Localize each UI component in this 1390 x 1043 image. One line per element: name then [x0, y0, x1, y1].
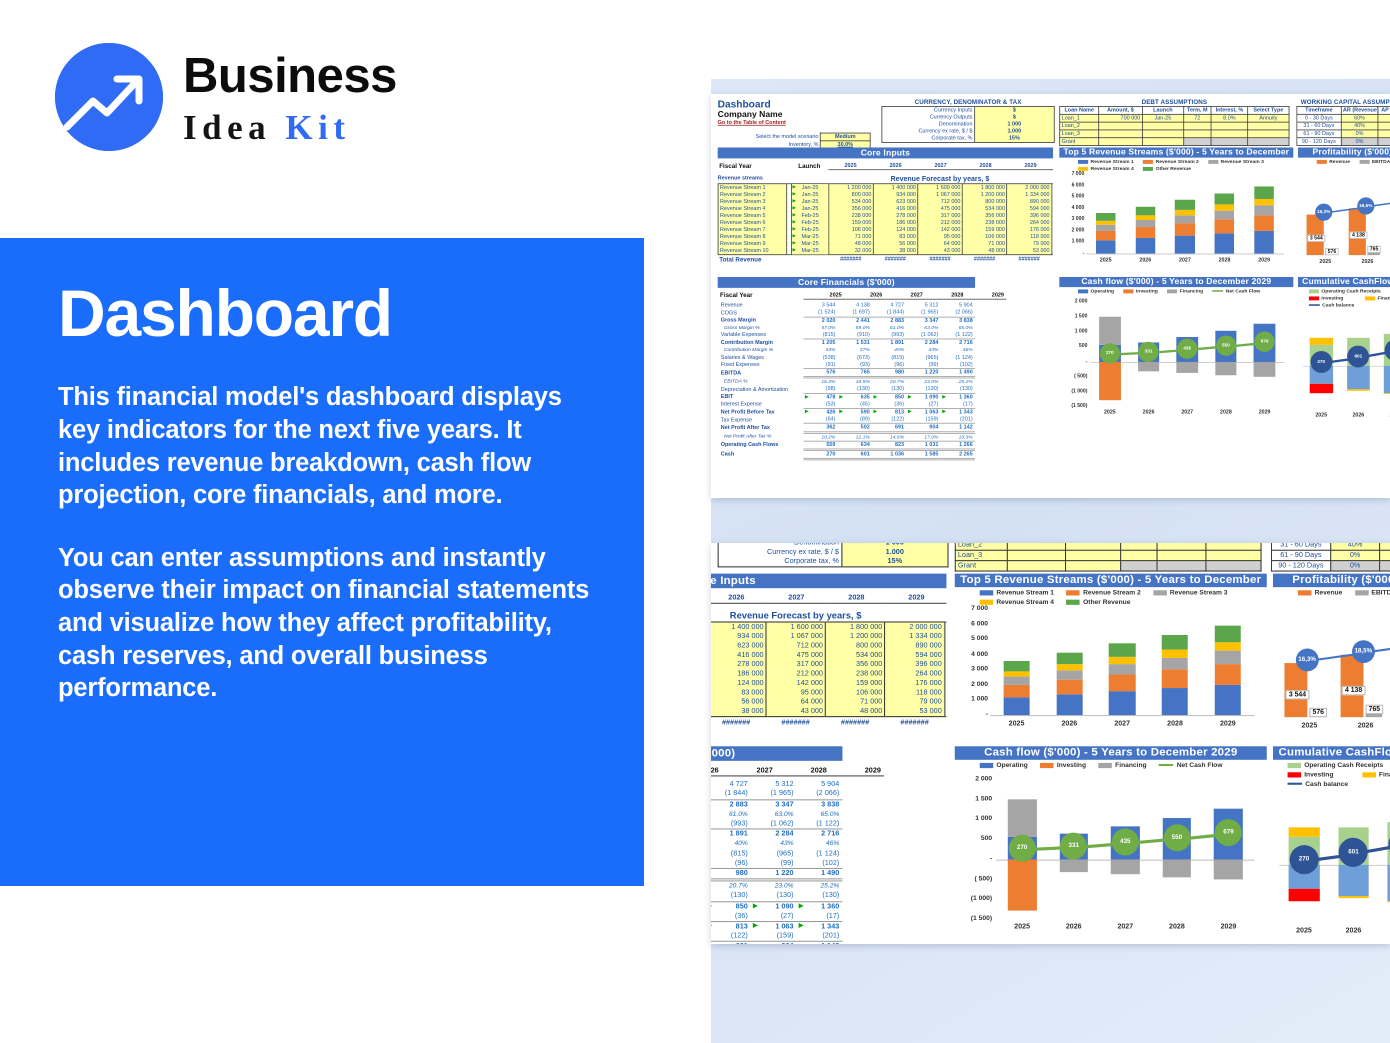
revenue-stream-value[interactable]: 396 000	[885, 660, 944, 669]
revenue-stream-value[interactable]: 2 000 000	[885, 622, 944, 632]
revenue-stream-row: Revenue Stream 1 ▶Jan-25 1 200 0001 400 …	[711, 622, 946, 632]
revenue-stream-value[interactable]: 623 000	[873, 198, 918, 205]
cumulative-cashflow-chart[interactable]: Cumulative CashFlow ($'000) - 5 Years to…	[1298, 277, 1390, 424]
total-revenue-value: #######	[962, 256, 1007, 263]
revenue-stream-value[interactable]: 95 000	[766, 688, 825, 697]
debt-cell[interactable]	[1157, 543, 1206, 550]
revenue-stream-name[interactable]: Revenue Stream 5	[718, 212, 787, 219]
revenue-stream-value[interactable]: 356 000	[826, 660, 885, 669]
revenue-stream-name[interactable]: Revenue Stream 6	[718, 219, 787, 226]
y-axis-tick: ( 500)	[955, 875, 992, 882]
stacked-bar-segment	[1109, 691, 1135, 715]
revenue-stream-value[interactable]: 594 000	[1007, 205, 1052, 212]
revenue-stream-value[interactable]: 64 000	[918, 240, 963, 247]
revenue-stream-launch[interactable]: ▶Jan-25	[791, 205, 828, 212]
financial-row-value: 18.5%	[838, 377, 872, 385]
debt-cell[interactable]: 8.0%	[1211, 114, 1248, 122]
revenue-stream-value[interactable]: 534 000	[826, 651, 885, 660]
revenue-stream-value[interactable]: 43 000	[766, 707, 825, 717]
revenue-stream-value[interactable]: 1 200 000	[829, 184, 874, 191]
revenue-stream-launch[interactable]: ▶Feb-25	[791, 212, 828, 219]
revenue-stream-launch[interactable]: ▶Jan-25	[791, 184, 828, 191]
debt-cell[interactable]	[1157, 550, 1206, 560]
revenue-stream-value[interactable]: 890 000	[1007, 198, 1052, 205]
debt-block-title: DEBT ASSUMPTIONS	[1059, 98, 1289, 105]
legend-item: Revenue Stream 3	[1208, 159, 1264, 164]
financial-row-label: EBIT	[718, 393, 804, 401]
revenue-stream-value[interactable]: 800 000	[829, 191, 874, 198]
revenue-stream-launch[interactable]: ▶Mar-25	[791, 233, 828, 240]
financial-row-value: 5 312	[906, 302, 940, 309]
wc-cell[interactable]: 60%	[1341, 114, 1378, 122]
profitability-chart[interactable]: Profitability ($'000) - 5 Years to Decem…	[1298, 147, 1390, 272]
financial-row-value: 43%	[751, 839, 797, 849]
debt-cell[interactable]	[1099, 122, 1143, 130]
debt-cell[interactable]: Jan-25	[1142, 114, 1183, 122]
debt-cell[interactable]	[1065, 561, 1120, 571]
company-name: Company Name	[718, 110, 874, 119]
revenue-stream-row: Revenue Stream 10 ▶Mar-25 32 00038 00043…	[711, 707, 946, 717]
revenue-stream-name[interactable]: Revenue Stream 10	[718, 247, 787, 254]
profitability-chart[interactable]: Profitability ($'000) - 5 Years to Decem…	[1273, 574, 1390, 740]
debt-cell[interactable]	[1007, 550, 1065, 560]
stacked-bar-segment	[1056, 670, 1082, 679]
revenue-streams-chart[interactable]: Top 5 Revenue Streams ($'000) - 5 Years …	[1059, 147, 1293, 272]
wc-cell[interactable]: 40%	[1380, 561, 1390, 571]
debt-cell[interactable]	[1184, 122, 1212, 130]
wc-cell[interactable]: 30%	[1378, 130, 1390, 138]
revenue-stream-value[interactable]: 712 000	[918, 198, 963, 205]
debt-cell[interactable]: Loan_3	[1060, 130, 1099, 138]
currency-denominator-tax-block: CURRENCY, DENOMINATOR & TAX Currency Inp…	[718, 543, 949, 567]
wc-col-header: AP (COGS)	[1378, 107, 1390, 115]
chart-title: Profitability ($'000) - 5 Years to Decem…	[1273, 574, 1390, 588]
debt-cell[interactable]	[1206, 561, 1261, 571]
financial-row-value: ▶1 063	[906, 408, 940, 416]
description-paragraph-1: This financial model's dashboard display…	[58, 381, 594, 512]
debt-cell[interactable]	[1248, 130, 1289, 138]
revenue-stream-row: Revenue Stream 5 ▶Feb-25 238 000278 0003…	[711, 660, 946, 669]
revenue-stream-value[interactable]: 48 000	[829, 240, 874, 247]
revenue-stream-value[interactable]: 95 000	[918, 233, 963, 240]
stacked-bar-segment	[1135, 238, 1155, 254]
wc-cell[interactable]: 0%	[1341, 130, 1378, 138]
financial-row-value: 17.0%	[906, 432, 940, 441]
revenue-stream-name[interactable]: Revenue Stream 2	[718, 191, 787, 198]
revenue-stream-value[interactable]: 159 000	[829, 219, 874, 226]
wc-block-title: WORKING CAPITAL ASSUMPTIONS	[1296, 98, 1390, 105]
financial-row-value: (99)	[751, 858, 797, 868]
dashboard-screenshot-bottom[interactable]: Dashboard Company Name Go to the Table o…	[711, 543, 1390, 944]
legend-item: Investing	[1040, 762, 1086, 769]
table-of-contents-link[interactable]: Go to the Table of Content	[718, 119, 874, 126]
y-axis-tick: 2 000	[955, 775, 992, 782]
revenue-stream-value[interactable]: 934 000	[873, 191, 918, 198]
revenue-stream-value[interactable]: 1 800 000	[826, 622, 885, 632]
legend-item: Revenue Stream 1	[1078, 159, 1134, 164]
revenue-stream-value[interactable]: 64 000	[766, 697, 825, 706]
revenue-stream-value[interactable]: 124 000	[711, 679, 766, 688]
revenue-stream-value[interactable]: 2 000 000	[1007, 184, 1052, 191]
debt-cell[interactable]	[1007, 561, 1065, 571]
revenue-stream-value[interactable]: 1 067 000	[918, 191, 963, 198]
stacked-bar-segment	[1109, 643, 1135, 656]
revenue-stream-value[interactable]: 594 000	[885, 651, 944, 660]
revenue-stream-row: Revenue Stream 8 ▶Mar-25 71 00083 00095 …	[711, 688, 946, 697]
financial-row-value: (130)	[872, 386, 906, 394]
revenue-stream-value[interactable]: 1 600 000	[766, 622, 825, 632]
revenue-stream-value[interactable]: 356 000	[962, 212, 1007, 219]
revenue-stream-value[interactable]: 416 000	[873, 205, 918, 212]
revenue-stream-value[interactable]: 71 000	[962, 240, 1007, 247]
revenue-stream-value[interactable]: 800 000	[962, 198, 1007, 205]
financial-row-value: ▶1 343	[797, 922, 843, 932]
financial-row-value: 65.0%	[941, 324, 975, 331]
revenue-stream-value[interactable]: 83 000	[873, 233, 918, 240]
revenue-stream-launch[interactable]: ▶Jan-25	[791, 191, 828, 198]
financial-row-value: 904	[751, 942, 797, 944]
debt-cell[interactable]: Annuity	[1248, 114, 1289, 122]
revenue-stream-value[interactable]: 79 000	[885, 697, 944, 706]
wc-cell: 31 - 60 Days	[1297, 122, 1341, 130]
revenue-streams-chart[interactable]: Top 5 Revenue Streams ($'000) - 5 Years …	[955, 574, 1267, 740]
debt-col-header: Launch	[1142, 107, 1183, 115]
debt-cell[interactable]	[1206, 550, 1261, 560]
financial-row-value: (99)	[906, 361, 940, 369]
revenue-stream-value[interactable]: 934 000	[711, 632, 766, 641]
revenue-stream-value[interactable]: 264 000	[1007, 219, 1052, 226]
x-axis-label: 2025	[1303, 413, 1340, 418]
revenue-stream-value[interactable]: 106 000	[962, 233, 1007, 240]
financial-row: Tax Expense (64)(89)(122)(159)(201)	[711, 932, 842, 942]
revenue-stream-value[interactable]: 79 000	[1007, 240, 1052, 247]
revenue-stream-value[interactable]: 1 800 000	[962, 184, 1007, 191]
stacked-bar-segment	[1175, 215, 1195, 223]
revenue-data-label: 3 544	[1286, 690, 1309, 699]
revenue-stream-value[interactable]: 53 000	[885, 707, 944, 717]
revenue-stream-launch[interactable]: ▶Mar-25	[791, 247, 828, 254]
revenue-stream-name[interactable]: Revenue Stream 3	[718, 198, 787, 205]
revenue-stream-value[interactable]: 48 000	[962, 247, 1007, 254]
revenue-stream-value[interactable]: 278 000	[873, 212, 918, 219]
y-axis-tick: 7 000	[957, 605, 988, 612]
revenue-stream-value[interactable]: 534 000	[829, 198, 874, 205]
debt-cell[interactable]: Loan_2	[1060, 122, 1099, 130]
debt-cell[interactable]: Grant	[1060, 138, 1099, 146]
debt-cell[interactable]	[1248, 138, 1289, 146]
legend-item: EBITDA	[1359, 159, 1390, 164]
debt-cell[interactable]	[1206, 543, 1261, 550]
legend-item: Operating Cash Receipts	[1309, 289, 1381, 294]
ebitda-percent-bubble: 16,3%	[1296, 648, 1319, 671]
dashboard-screenshot-top[interactable]: Dashboard Company Name Go to the Table o…	[711, 94, 1390, 498]
debt-cell[interactable]	[1120, 550, 1157, 560]
debt-cell[interactable]: Loan_1	[1060, 114, 1099, 122]
revenue-stream-value[interactable]: 106 000	[829, 226, 874, 233]
revenue-stream-name[interactable]: Revenue Stream 7	[718, 226, 787, 233]
cash-flow-chart[interactable]: Cash flow ($'000) - 5 Years to December …	[955, 746, 1267, 942]
x-axis-label: 2025	[1091, 410, 1130, 415]
debt-cell[interactable]	[1007, 543, 1065, 550]
financial-row-value: ▶635	[838, 393, 872, 401]
revenue-stream-value[interactable]: 278 000	[711, 660, 766, 669]
revenue-stream-value[interactable]: 1 200 000	[826, 632, 885, 641]
revenue-stream-value[interactable]: 142 000	[918, 226, 963, 233]
debt-cell[interactable]	[1211, 130, 1248, 138]
debt-cell[interactable]	[1099, 130, 1143, 138]
x-axis-label: 2025	[1304, 259, 1346, 264]
legend-line-marker	[1213, 290, 1224, 292]
revenue-stream-value[interactable]: 317 000	[766, 660, 825, 669]
wc-cell: 90 - 120 Days	[1271, 561, 1330, 571]
revenue-stream-value[interactable]: 1 334 000	[1007, 191, 1052, 198]
revenue-stream-value[interactable]: 56 000	[711, 697, 766, 706]
financial-row-value: (130)	[797, 891, 843, 901]
revenue-stream-name[interactable]: Revenue Stream 9	[718, 240, 787, 247]
revenue-stream-value[interactable]: 38 000	[711, 707, 766, 717]
wc-cell[interactable]: 30%	[1380, 550, 1390, 560]
revenue-stream-value[interactable]: 1 400 000	[873, 184, 918, 191]
revenue-stream-value[interactable]: 43 000	[918, 247, 963, 254]
revenue-stream-value[interactable]: 56 000	[873, 240, 918, 247]
debt-cell[interactable]	[1099, 138, 1143, 146]
revenue-stream-launch[interactable]: ▶Jan-25	[791, 198, 828, 205]
debt-cell[interactable]: Grant	[955, 561, 1007, 571]
revenue-stream-value[interactable]: 176 000	[1007, 226, 1052, 233]
debt-cell[interactable]	[1120, 561, 1157, 571]
debt-cell[interactable]	[1184, 138, 1212, 146]
wc-cell[interactable]: 20%	[1378, 122, 1390, 130]
currency-value[interactable]: $	[974, 114, 1054, 121]
debt-cell[interactable]	[1142, 138, 1183, 146]
financial-row-value: ▶1 343	[941, 408, 975, 416]
revenue-stream-launch[interactable]: ▶Feb-25	[791, 219, 828, 226]
revenue-stream-value[interactable]: 1 400 000	[711, 622, 766, 632]
financial-row-value: 2 883	[711, 799, 751, 809]
ebitda-data-label: 576	[1309, 707, 1327, 716]
legend-swatch	[1123, 289, 1133, 293]
chart-legend: OperatingInvestingFinancingNet Cash Flow	[1059, 287, 1293, 294]
financial-row-value: 16.3%	[803, 377, 837, 385]
revenue-stream-value[interactable]: 176 000	[885, 679, 944, 688]
ebitda-data-label: 576	[1325, 248, 1338, 255]
legend-item: Investing Financing	[1309, 296, 1390, 301]
revenue-stream-value[interactable]: 212 000	[918, 219, 963, 226]
financing-bar	[1215, 362, 1237, 375]
financial-row-label: EBITDA %	[718, 377, 804, 385]
wc-cell[interactable]: 40%	[1330, 543, 1380, 550]
debt-cell[interactable]	[1065, 543, 1120, 550]
chart-title: Cash flow ($'000) - 5 Years to December …	[1059, 277, 1293, 287]
currency-value[interactable]: 15%	[974, 135, 1054, 142]
financial-row-label: Net Profit Before Tax	[718, 408, 804, 416]
stacked-bar-segment	[1254, 216, 1274, 231]
revenue-stream-value[interactable]: 142 000	[766, 679, 825, 688]
debt-cell[interactable]	[1248, 122, 1289, 130]
financial-row-value: 5 904	[797, 780, 843, 790]
revenue-stream-value[interactable]: 238 000	[826, 669, 885, 678]
scenario-select[interactable]: Medium	[820, 133, 870, 141]
debt-cell[interactable]	[1211, 138, 1248, 146]
revenue-stream-value[interactable]: 890 000	[885, 641, 944, 650]
financial-row-value: 63.0%	[751, 810, 797, 820]
revenue-stream-value[interactable]: 159 000	[826, 679, 885, 688]
revenue-stream-value[interactable]: 32 000	[829, 247, 874, 254]
revenue-stream-value[interactable]: 396 000	[1007, 212, 1052, 219]
revenue-stream-value[interactable]: 71 000	[826, 697, 885, 706]
y-axis-tick: -	[1059, 359, 1087, 364]
revenue-stream-value[interactable]: 317 000	[918, 212, 963, 219]
x-axis-label: 2027	[1100, 923, 1152, 930]
revenue-stream-name[interactable]: Revenue Stream 8	[718, 233, 787, 240]
revenue-stream-value[interactable]: 212 000	[766, 669, 825, 678]
scenario-label: Select the model scenario	[718, 133, 821, 141]
legend-item: Cash balance	[1309, 303, 1390, 308]
revenue-stream-value[interactable]: 238 000	[962, 219, 1007, 226]
cumulative-cashflow-chart[interactable]: Cumulative CashFlow ($'000) - 5 Years to…	[1273, 746, 1390, 942]
revenue-stream-value[interactable]: 534 000	[962, 205, 1007, 212]
revenue-stream-value[interactable]: 238 000	[829, 212, 874, 219]
debt-cell[interactable]	[1065, 550, 1120, 560]
revenue-stream-value[interactable]: 118 000	[885, 688, 944, 697]
debt-cell[interactable]	[1120, 543, 1157, 550]
debt-cell[interactable]	[1142, 122, 1183, 130]
revenue-stream-value[interactable]: 118 000	[1007, 233, 1052, 240]
chart-title: Top 5 Revenue Streams ($'000) - 5 Years …	[955, 574, 1267, 588]
stacked-bar-segment	[1215, 193, 1235, 204]
debt-cell[interactable]	[1211, 122, 1248, 130]
revenue-stream-value[interactable]: 1 334 000	[885, 632, 944, 641]
financial-row-value: 362	[803, 424, 837, 433]
revenue-stream-value[interactable]: 106 000	[826, 688, 885, 697]
sheet-title: Dashboard	[718, 99, 874, 110]
debt-cell[interactable]	[1157, 561, 1206, 571]
financial-row: Contribution Margin 1 2051 5311 8912 284…	[711, 829, 842, 839]
legend-swatch	[1309, 296, 1319, 300]
currency-value[interactable]: 1.000	[842, 548, 948, 557]
revenue-stream-value[interactable]: 475 000	[766, 651, 825, 660]
cash-flow-chart[interactable]: Cash flow ($'000) - 5 Years to December …	[1059, 277, 1293, 424]
revenue-stream-value[interactable]: 264 000	[885, 669, 944, 678]
revenue-stream-value[interactable]: 48 000	[826, 707, 885, 717]
debt-col-header: Amount, $	[1099, 107, 1143, 115]
stacked-bar-segment	[1215, 626, 1241, 642]
y-axis-tick: -	[1061, 250, 1084, 255]
financial-row-value: (1 524)	[803, 309, 837, 317]
revenue-stream-value[interactable]: 623 000	[711, 641, 766, 650]
description-panel: Dashboard This financial model's dashboa…	[0, 238, 644, 886]
financial-row-value: 691	[711, 942, 751, 944]
fin-year-header: 2027	[722, 766, 776, 776]
financial-row-value: 3 838	[941, 317, 975, 325]
revenue-stream-name[interactable]: Revenue Stream 4	[718, 205, 787, 212]
currency-value[interactable]: $	[974, 107, 1054, 114]
financial-row-value: 3 838	[797, 799, 843, 809]
brand-idea-text: Idea	[183, 108, 271, 147]
revenue-stream-value[interactable]: 159 000	[962, 226, 1007, 233]
wc-cell[interactable]: 0%	[1341, 138, 1378, 146]
currency-row: Currency Inputs $	[882, 107, 1054, 114]
ebitda-percent-bubble: 16,3%	[1315, 203, 1332, 220]
y-axis-tick: (1 500)	[1059, 403, 1087, 408]
revenue-stream-value[interactable]: 416 000	[711, 651, 766, 660]
legend-item: Other Revenue	[1143, 166, 1191, 171]
sheet-header-left: Dashboard Company Name Go to the Table o…	[718, 99, 874, 149]
revenue-stream-value[interactable]: 186 000	[873, 219, 918, 226]
financial-row-value: (815)	[803, 332, 837, 340]
debt-cell[interactable]	[1184, 130, 1212, 138]
debt-cell[interactable]	[1142, 130, 1183, 138]
debt-cell[interactable]: 72	[1184, 114, 1212, 122]
debt-cell[interactable]: Loan_3	[955, 550, 1007, 560]
financial-row-value: (993)	[711, 819, 751, 829]
core-inputs-section: Core Inputs Fiscal Year Launch 202520262…	[711, 574, 946, 728]
financial-row-value: 1 490	[941, 369, 975, 378]
revenue-stream-value[interactable]: 1 067 000	[766, 632, 825, 641]
revenue-stream-value[interactable]: 83 000	[711, 688, 766, 697]
wc-cell[interactable]: 0%	[1330, 550, 1380, 560]
wc-cell[interactable]: 40%	[1341, 122, 1378, 130]
financial-row-value: (1 124)	[941, 354, 975, 361]
revenue-stream-value[interactable]: 800 000	[826, 641, 885, 650]
financing-bar	[1347, 389, 1370, 390]
financial-row: Net Profit After Tax 3625026919041 142	[718, 424, 975, 433]
financial-row-value: (17)	[941, 401, 975, 409]
x-axis-label: 2025	[996, 923, 1048, 930]
stacked-bar-segment	[1003, 671, 1029, 676]
wc-cell[interactable]: 40%	[1378, 138, 1390, 146]
financial-row-value: 43%	[906, 347, 940, 354]
debt-cell[interactable]: 700 000	[1099, 114, 1143, 122]
currency-value[interactable]: 1.000	[974, 128, 1054, 135]
currency-value[interactable]: 1 000	[974, 121, 1054, 128]
revenue-stream-value[interactable]: 71 000	[829, 233, 874, 240]
financing-bar	[1099, 317, 1121, 345]
x-axis-label: 2028	[1149, 720, 1202, 727]
financial-row-value: 980	[872, 369, 906, 378]
revenue-stream-value[interactable]: 1 200 000	[962, 191, 1007, 198]
legend-swatch	[980, 590, 994, 595]
debt-row: Loan_2	[1060, 122, 1289, 130]
revenue-stream-row: Revenue Stream 3 ▶Jan-25 534 000623 0007…	[711, 641, 946, 650]
currency-value[interactable]: 15%	[842, 557, 948, 567]
wc-cell[interactable]: 10%	[1378, 114, 1390, 122]
investing-bar	[1289, 889, 1320, 901]
revenue-stream-value[interactable]: 53 000	[1007, 247, 1052, 254]
y-axis-tick: 2 000	[1059, 299, 1087, 304]
year-header: 2029	[886, 593, 946, 603]
revenue-stream-value[interactable]: 124 000	[873, 226, 918, 233]
wc-cell[interactable]: 0%	[1330, 561, 1380, 571]
revenue-stream-launch[interactable]: ▶Feb-25	[791, 226, 828, 233]
financial-row-value: (93)	[838, 361, 872, 369]
revenue-stream-value[interactable]: 475 000	[918, 205, 963, 212]
revenue-stream-value[interactable]: 38 000	[873, 247, 918, 254]
revenue-stream-row: Revenue Stream 7 ▶Feb-25 106 000124 0001…	[718, 226, 1053, 233]
financing-bar	[1162, 859, 1191, 877]
revenue-stream-value[interactable]: 186 000	[711, 669, 766, 678]
revenue-stream-value[interactable]: 1 600 000	[918, 184, 963, 191]
legend-swatch	[1078, 289, 1088, 293]
revenue-stream-value[interactable]: 712 000	[766, 641, 825, 650]
stacked-bar-segment	[1215, 204, 1235, 210]
wc-cell[interactable]: 20%	[1380, 543, 1390, 550]
debt-cell[interactable]: Loan_2	[955, 543, 1007, 550]
stacked-bar-segment	[1003, 685, 1029, 697]
revenue-stream-value[interactable]: 356 000	[829, 205, 874, 212]
revenue-stream-name[interactable]: Revenue Stream 1	[718, 184, 787, 191]
revenue-stream-launch[interactable]: ▶Mar-25	[791, 240, 828, 247]
